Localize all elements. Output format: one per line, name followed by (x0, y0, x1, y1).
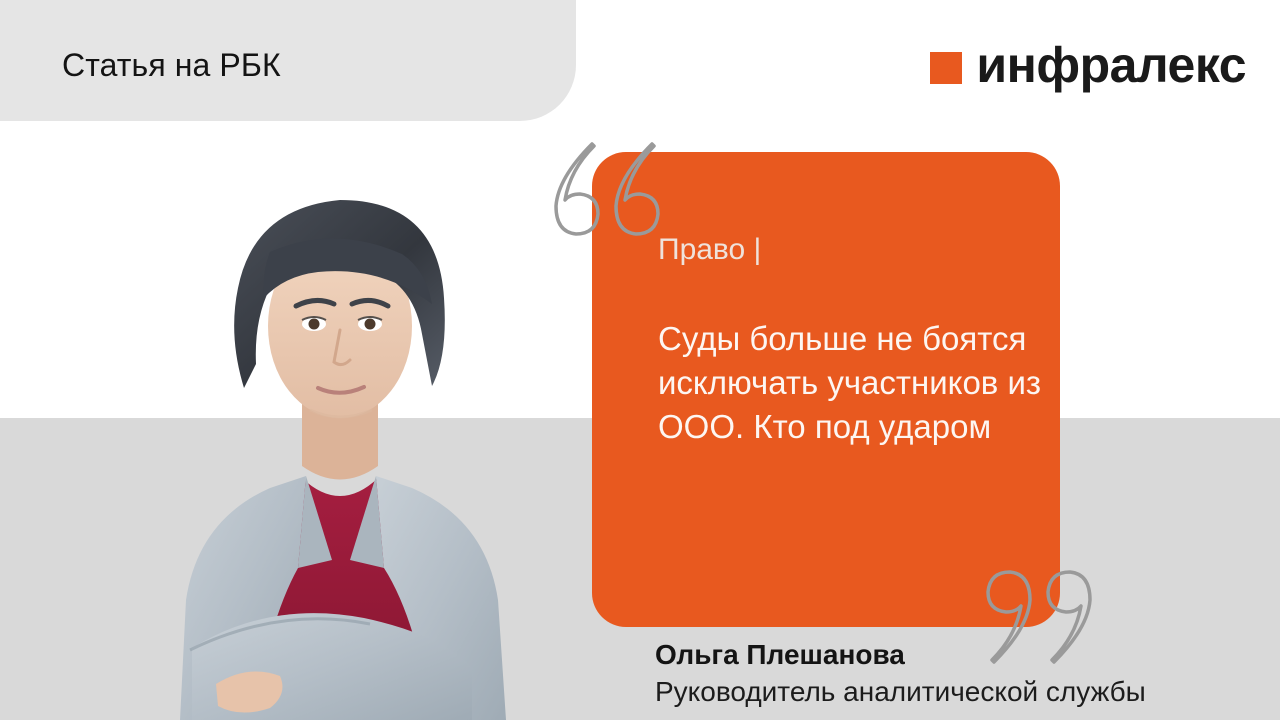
brand-logo[interactable]: инфралекс (930, 40, 1246, 90)
header-banner: Статья на РБК (0, 0, 576, 121)
speaker-role: Руководитель аналитической службы (655, 674, 1275, 710)
page-title: Статья на РБК (62, 46, 281, 84)
slide-canvas: Статья на РБК инфралекс (0, 0, 1280, 720)
speaker-name: Ольга Плешанова (655, 638, 1275, 672)
quote-card: Право | Суды больше не боятся исключать … (592, 152, 1060, 627)
orange-square-icon (930, 52, 962, 84)
speaker-caption: Ольга Плешанова Руководитель аналитическ… (655, 638, 1275, 710)
card-kicker: Право | (658, 232, 761, 268)
portrait-photo (120, 148, 560, 720)
brand-logo-text: инфралекс (976, 40, 1246, 90)
card-headline: Суды больше не боятся исключать участник… (658, 317, 1048, 449)
